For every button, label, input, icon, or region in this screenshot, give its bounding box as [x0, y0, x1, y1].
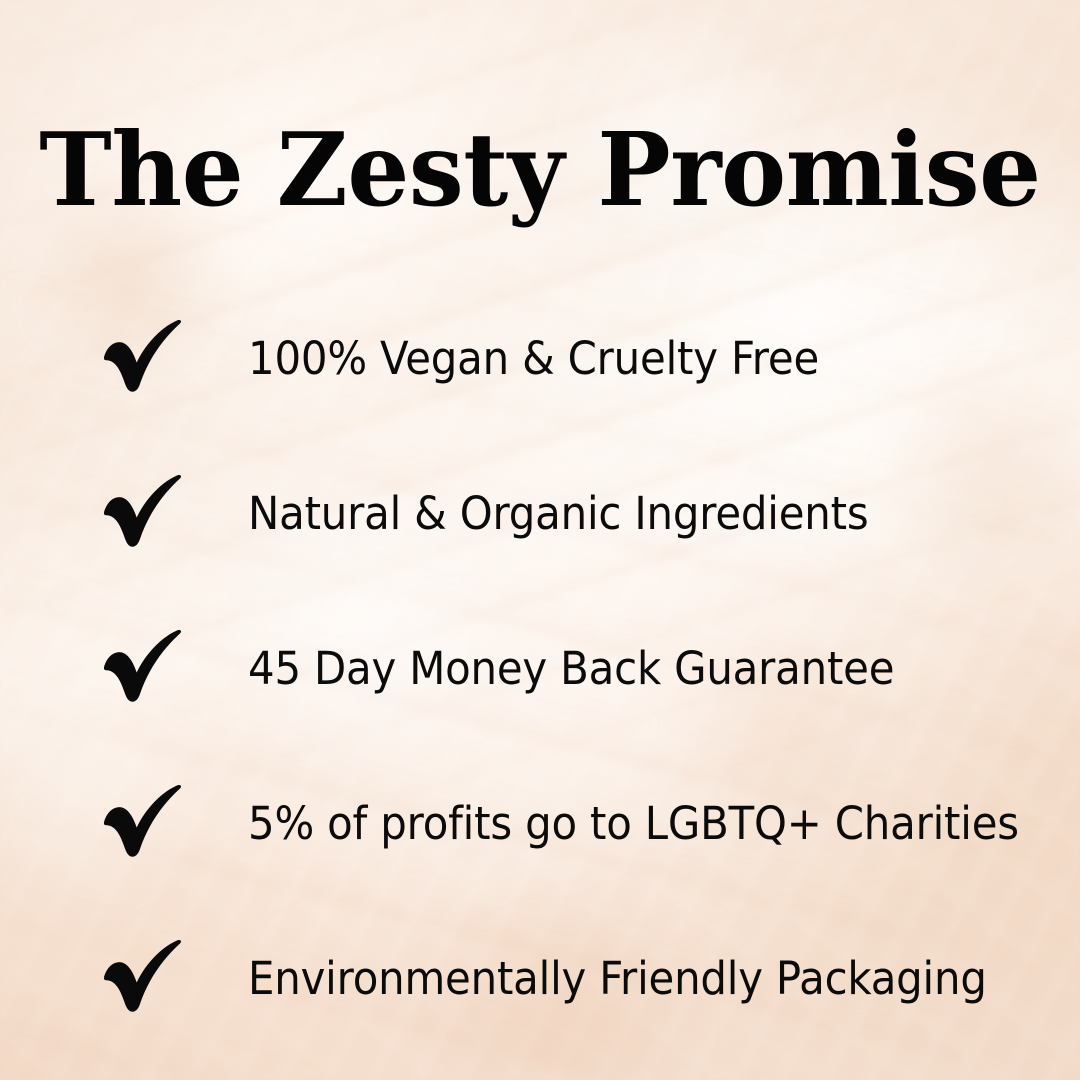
check-icon: [101, 630, 187, 702]
card-content: The Zesty Promise 100% Vegan & Cruelty F…: [0, 0, 1080, 1080]
check-icon: [101, 320, 187, 392]
list-item: 45 Day Money Back Guarantee: [0, 591, 1080, 746]
list-item: Natural & Organic Ingredients: [0, 436, 1080, 591]
list-item: Environmentally Friendly Packaging: [0, 901, 1080, 1056]
promise-label: 100% Vegan & Cruelty Free: [248, 336, 819, 381]
list-item: 100% Vegan & Cruelty Free: [0, 281, 1080, 436]
promise-label: Environmentally Friendly Packaging: [248, 956, 987, 1001]
page-title: The Zesty Promise: [19, 116, 1061, 223]
promise-label: 5% of profits go to LGBTQ+ Charities: [248, 801, 1019, 846]
promise-list: 100% Vegan & Cruelty Free Natural & Orga…: [0, 281, 1080, 1056]
promise-card: The Zesty Promise 100% Vegan & Cruelty F…: [0, 0, 1080, 1080]
promise-label: Natural & Organic Ingredients: [248, 491, 868, 536]
list-item: 5% of profits go to LGBTQ+ Charities: [0, 746, 1080, 901]
promise-label: 45 Day Money Back Guarantee: [248, 646, 894, 691]
check-icon: [101, 475, 187, 547]
check-icon: [101, 940, 187, 1012]
check-icon: [101, 785, 187, 857]
